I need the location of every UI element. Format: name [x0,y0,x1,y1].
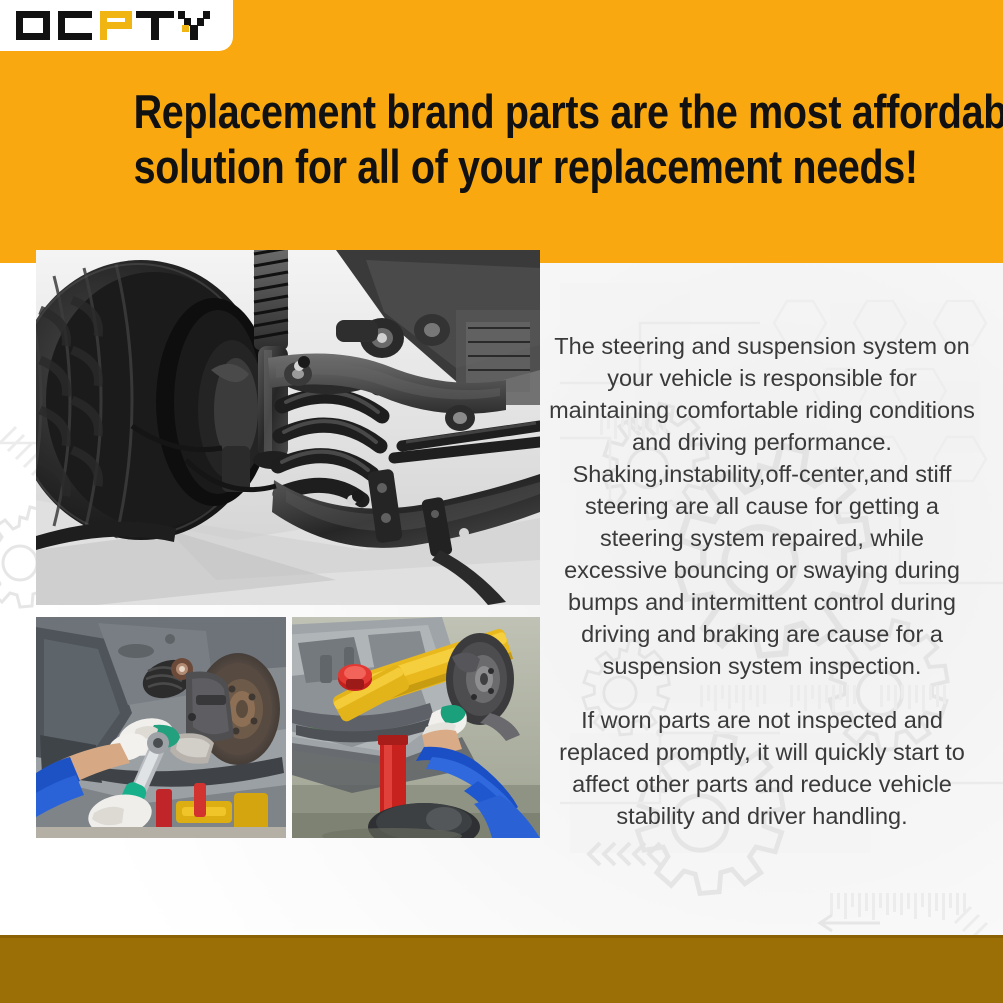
mechanic-wrench-brake-image [36,617,286,838]
description-paragraph-2: If worn parts are not inspected and repl… [548,704,976,832]
car-lift-photo[interactable] [292,617,540,838]
ocpty-logotype-icon [16,9,212,43]
bottom-accent-bar [0,935,1003,1003]
product-info-banner: Replacement brand parts are the most aff… [0,0,1003,1003]
suspension-assembly-image [36,250,540,605]
brand-logo[interactable] [0,0,233,51]
headline-line-1: Replacement brand parts are the most aff… [134,84,907,139]
logo-dot-accent [182,25,189,32]
main-suspension-photo[interactable] [36,250,540,605]
description-text: The steering and suspension system on yo… [548,330,976,832]
vehicle-on-lift-image [292,617,540,838]
page-headline: Replacement brand parts are the most aff… [134,84,907,194]
description-paragraph-1: The steering and suspension system on yo… [548,330,976,682]
mechanic-brake-photo[interactable] [36,617,286,838]
header-band: Replacement brand parts are the most aff… [0,0,1003,263]
headline-line-2: solution for all of your replacement nee… [134,139,907,194]
